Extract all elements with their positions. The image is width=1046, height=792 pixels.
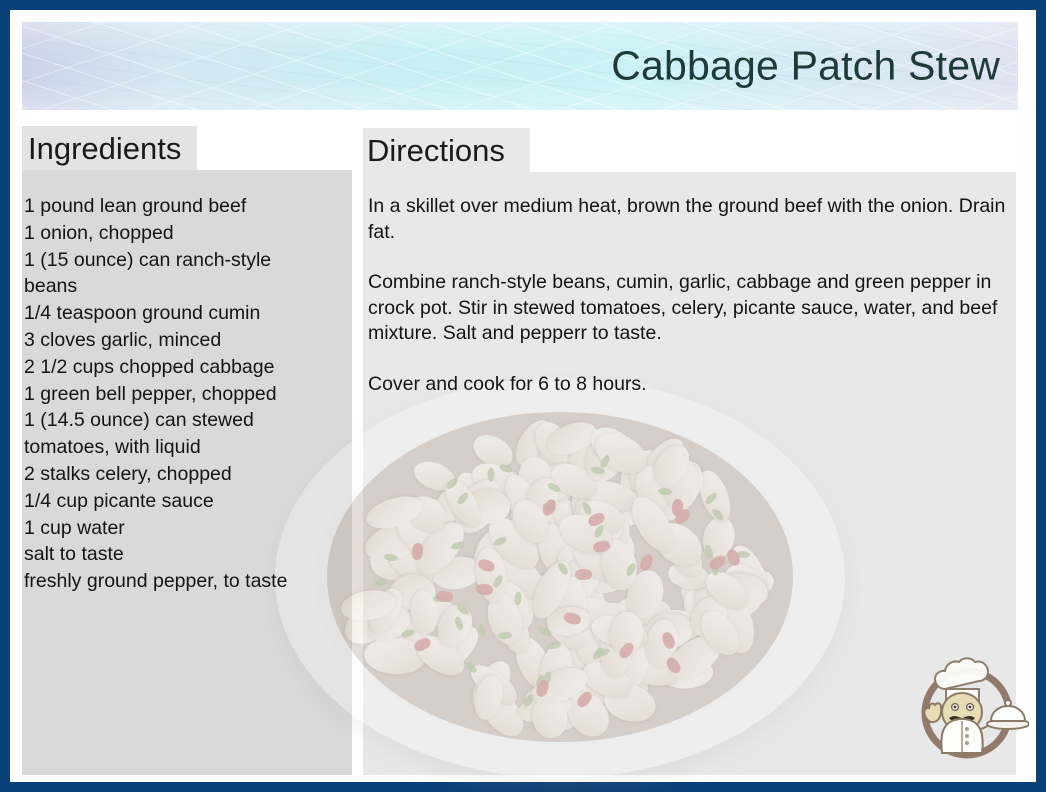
ingredient-line: tomatoes, with liquid [24, 434, 354, 461]
ingredient-line: 1 (14.5 ounce) can stewed [24, 407, 354, 434]
ingredient-line: freshly ground pepper, to taste [24, 568, 354, 595]
ingredients-list: 1 pound lean ground beef1 onion, chopped… [24, 193, 354, 595]
ingredient-line: 1/4 cup picante sauce [24, 488, 354, 515]
ingredient-line: salt to taste [24, 541, 354, 568]
ingredient-line: 1 green bell pepper, chopped [24, 381, 354, 408]
directions-section-tab: Directions [363, 128, 530, 172]
ingredient-line: 1 onion, chopped [24, 220, 354, 247]
header-banner: Cabbage Patch Stew [22, 22, 1018, 110]
recipe-card: Cabbage Patch Stew Ingredients Direction… [0, 0, 1046, 792]
ingredient-line: 2 1/2 cups chopped cabbage [24, 354, 354, 381]
ingredient-line: 3 cloves garlic, minced [24, 327, 354, 354]
ingredients-section-tab: Ingredients [22, 126, 197, 170]
ingredient-line: 1/4 teaspoon ground cumin [24, 300, 354, 327]
ingredient-line: 2 stalks celery, chopped [24, 461, 354, 488]
ingredient-line: 1 (15 ounce) can ranch-style [24, 247, 354, 274]
ingredient-line: 1 pound lean ground beef [24, 193, 354, 220]
chef-with-serving-tray-logo [905, 645, 1029, 769]
direction-step: Cover and cook for 6 to 8 hours. [368, 372, 1018, 398]
ingredients-heading: Ingredients [28, 133, 181, 164]
directions-heading: Directions [367, 135, 505, 166]
ingredient-line: beans [24, 273, 354, 300]
page-title: Cabbage Patch Stew [611, 43, 1000, 90]
direction-step: Combine ranch-style beans, cumin, garlic… [368, 270, 1018, 347]
ingredient-line: 1 cup water [24, 515, 354, 542]
directions-text: In a skillet over medium heat, brown the… [368, 194, 1018, 397]
direction-step: In a skillet over medium heat, brown the… [368, 194, 1018, 245]
